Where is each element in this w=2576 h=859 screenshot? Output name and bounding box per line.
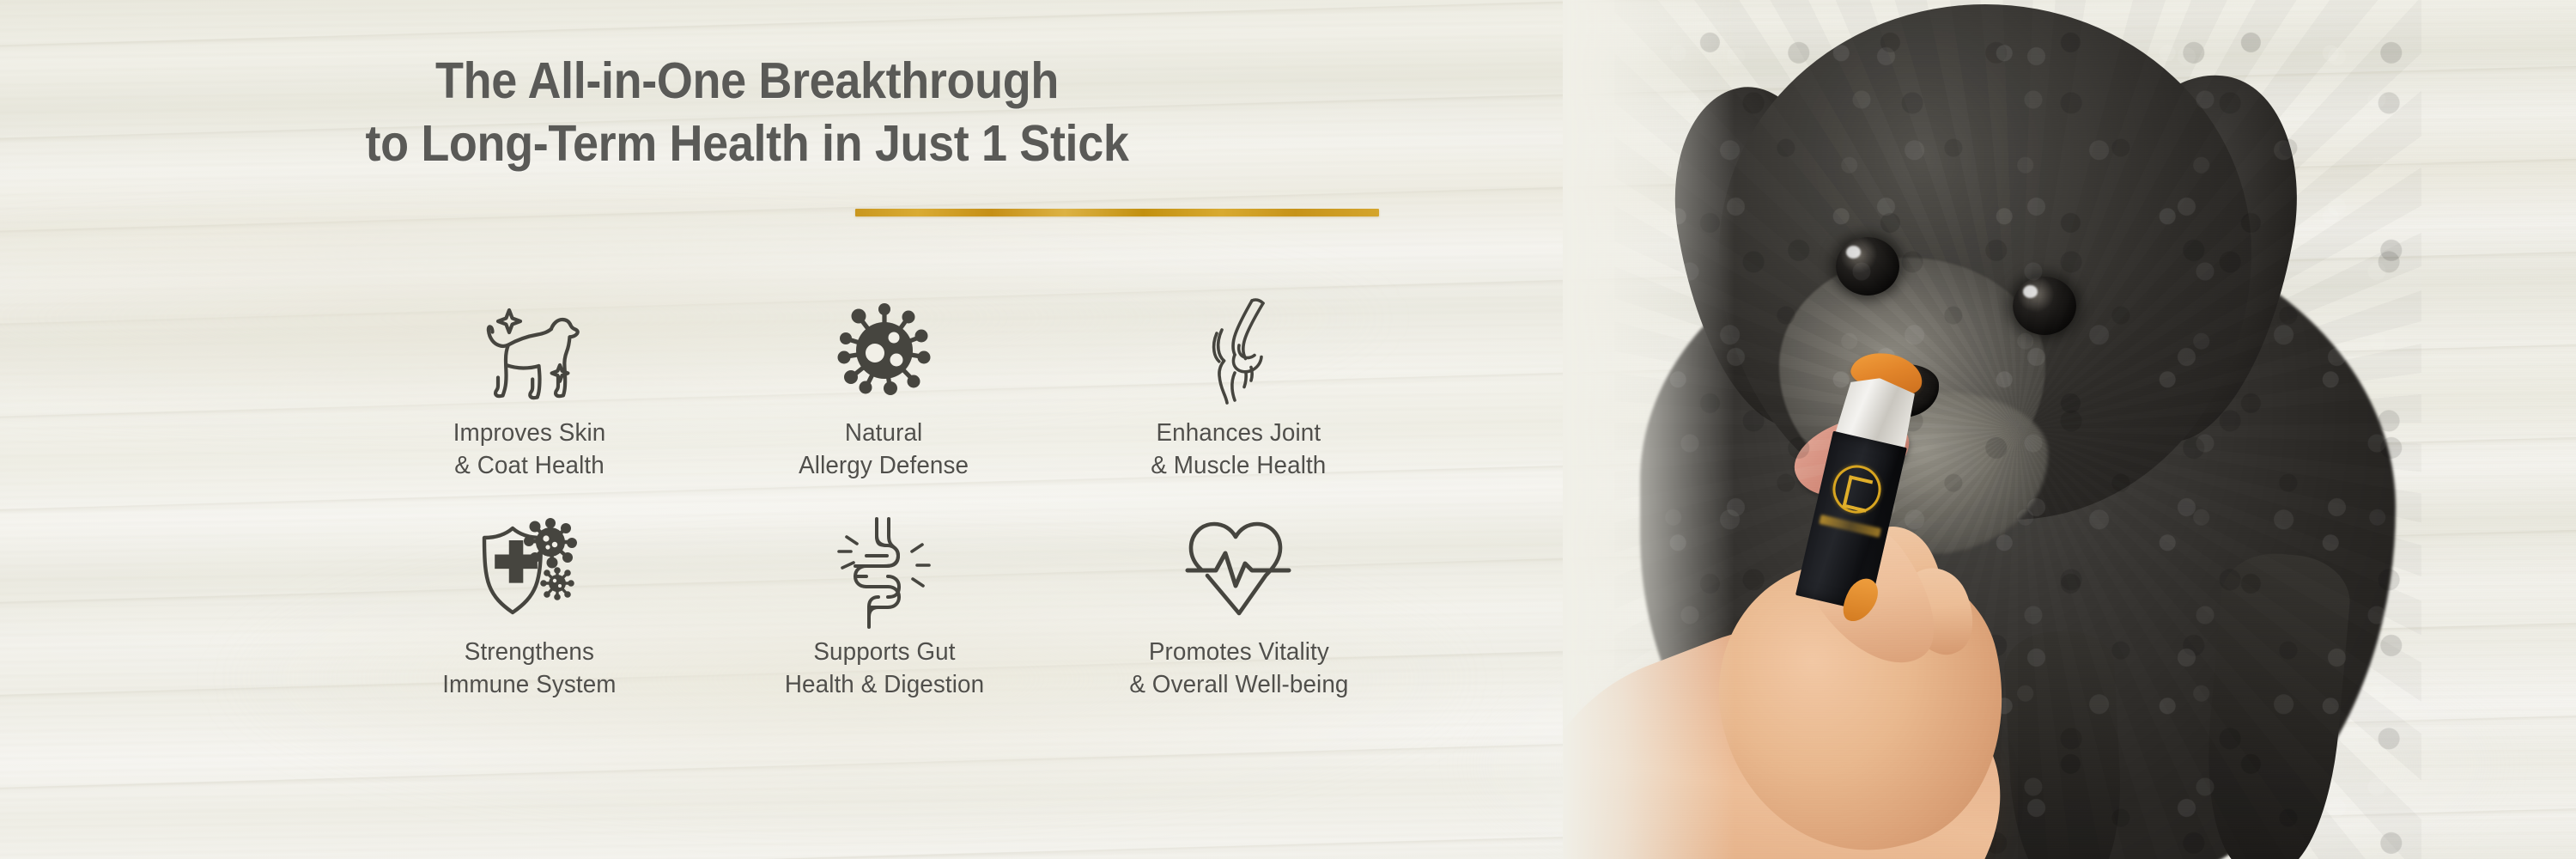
headline-accent-rule (855, 209, 1379, 216)
page-title: The All-in-One Breakthrough to Long-Term… (64, 50, 1431, 175)
benefit-skin-coat: Improves Skin & Coat Health (352, 296, 707, 483)
headline-line-1: The All-in-One Breakthrough (64, 50, 1431, 113)
dog-left-eye-glint (1846, 246, 1861, 259)
allergen-virus-icon (836, 296, 933, 401)
content-layer: The All-in-One Breakthrough to Long-Term… (0, 0, 1546, 859)
benefit-joint-muscle-label: Enhances Joint & Muscle Health (1151, 417, 1326, 483)
benefits-row-1: Improves Skin & Coat Health (352, 296, 1417, 483)
dog-rear-leg (2197, 549, 2354, 859)
dog-left-eye (1836, 237, 1899, 295)
hero-photo (1563, 0, 2576, 859)
benefit-allergy-defense: Natural Allergy Defense (707, 296, 1061, 483)
benefit-immune-system: Strengthens Immune System (352, 515, 707, 702)
dog-right-eye (2013, 277, 2076, 335)
benefit-immune-system-label: Strengthens Immune System (442, 636, 616, 702)
heart-pulse-icon (1179, 515, 1299, 620)
knee-joint-icon (1198, 296, 1280, 401)
promo-banner: The All-in-One Breakthrough to Long-Term… (0, 0, 2576, 859)
headline-line-2: to Long-Term Health in Just 1 Stick (64, 113, 1431, 175)
intestine-icon (830, 515, 939, 620)
benefit-joint-muscle: Enhances Joint & Muscle Health (1061, 296, 1416, 483)
benefit-gut-health: Supports Gut Health & Digestion (707, 515, 1061, 702)
benefit-gut-health-label: Supports Gut Health & Digestion (784, 636, 983, 702)
benefit-allergy-defense-label: Natural Allergy Defense (799, 417, 969, 483)
dog-sparkle-icon (477, 296, 583, 401)
benefit-vitality-label: Promotes Vitality & Overall Well-being (1129, 636, 1348, 702)
dog-right-eye-glint (2023, 285, 2038, 298)
benefit-skin-coat-label: Improves Skin & Coat Health (453, 417, 606, 483)
benefits-row-2: Strengthens Immune System (352, 515, 1417, 702)
benefits-grid: Improves Skin & Coat Health (352, 296, 1417, 701)
shield-germ-icon (475, 515, 585, 620)
benefit-vitality: Promotes Vitality & Overall Well-being (1061, 515, 1416, 702)
dog-front-left-leg (2002, 629, 2126, 859)
